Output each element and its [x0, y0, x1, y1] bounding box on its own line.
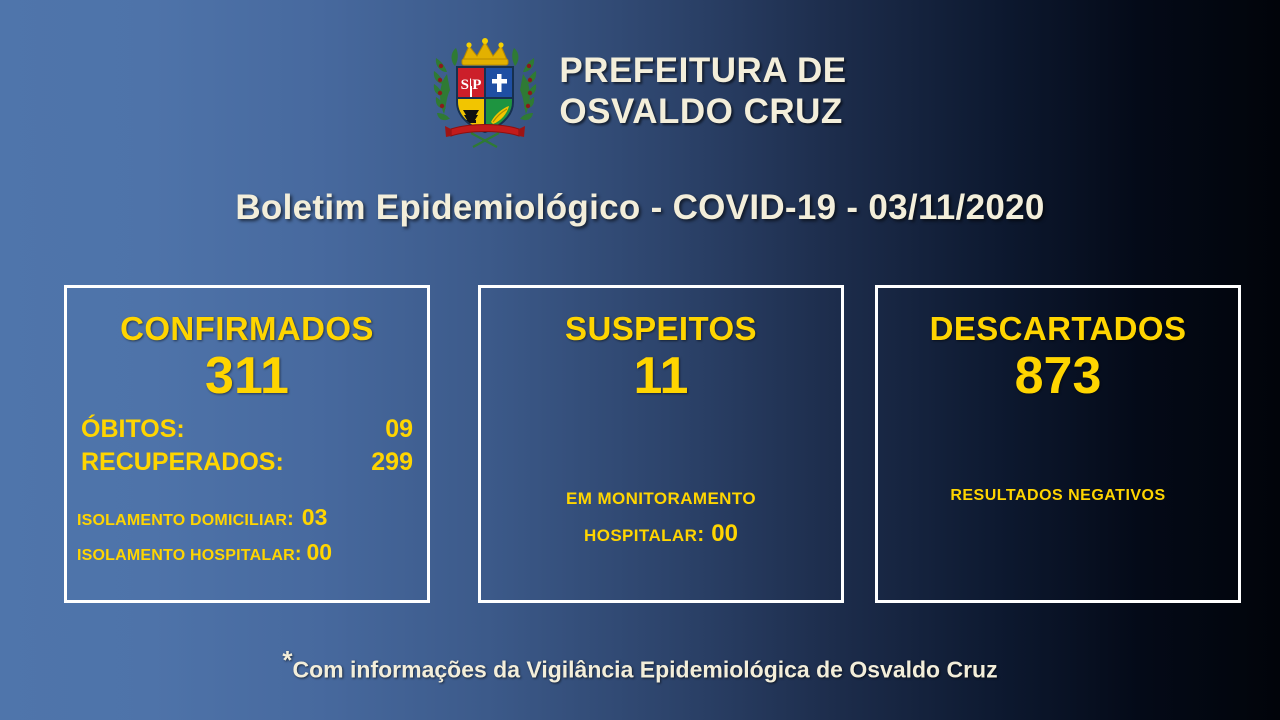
footnote-text: Com informações da Vigilância Epidemioló…: [293, 657, 998, 683]
stat-row-obitos: ÓBITOS: 09: [81, 413, 413, 446]
stat-row-isolamento-domiciliar: ISOLAMENTO DOMICILIAR : 03: [77, 500, 415, 536]
stat-value-isolamento-domiciliar: 03: [302, 500, 328, 536]
org-title-line2: OSVALDO CRUZ: [559, 92, 846, 133]
card-confirmados-total: 311: [67, 350, 427, 403]
monitoring-label-line1: EM MONITORAMENTO: [481, 489, 841, 509]
card-suspeitos-total: 11: [481, 350, 841, 403]
org-title-line1: PREFEITURA DE: [559, 51, 846, 92]
card-descartados-title: DESCARTADOS: [878, 310, 1238, 348]
confirmados-minor-stats: ISOLAMENTO DOMICILIAR : 03 ISOLAMENTO HO…: [77, 500, 415, 571]
organization-title: PREFEITURA DE OSVALDO CRUZ: [559, 51, 846, 132]
stat-label-isolamento-domiciliar: ISOLAMENTO DOMICILIAR: [77, 509, 287, 534]
card-suspeitos: SUSPEITOS 11 EM MONITORAMENTO HOSPITALAR…: [478, 285, 844, 603]
monitoring-label-hospitalar: HOSPITALAR: [584, 526, 697, 546]
monitoring-separator: :: [697, 523, 704, 547]
card-confirmados-title: CONFIRMADOS: [67, 310, 427, 348]
monitoring-hospital-row: HOSPITALAR : 00: [481, 520, 841, 548]
stats-cards-container: CONFIRMADOS 311 ÓBITOS: 09 RECUPERADOS: …: [0, 285, 1280, 605]
header: S|P: [0, 36, 1280, 148]
confirmados-major-stats: ÓBITOS: 09 RECUPERADOS: 299: [81, 413, 413, 480]
card-descartados-total: 873: [878, 350, 1238, 403]
osvaldo-cruz-coat-of-arms-icon: S|P: [433, 36, 537, 148]
footnote-asterisk: *: [282, 645, 292, 675]
stat-separator-isolamento-hospitalar: :: [295, 539, 302, 570]
stat-row-isolamento-hospitalar: ISOLAMENTO HOSPITALAR : 00: [77, 535, 415, 571]
stat-label-recuperados: RECUPERADOS:: [81, 446, 284, 479]
card-descartados-caption: RESULTADOS NEGATIVOS: [878, 487, 1238, 505]
footer-note: *Com informações da Vigilância Epidemiol…: [0, 645, 1280, 684]
monitoring-value-hospitalar: 00: [711, 520, 738, 548]
stat-row-recuperados: RECUPERADOS: 299: [81, 446, 413, 479]
stat-value-isolamento-hospitalar: 00: [307, 535, 333, 571]
card-confirmados: CONFIRMADOS 311 ÓBITOS: 09 RECUPERADOS: …: [64, 285, 430, 603]
stat-value-recuperados: 299: [371, 446, 413, 479]
stat-value-obitos: 09: [385, 413, 413, 446]
stat-label-isolamento-hospitalar: ISOLAMENTO HOSPITALAR: [77, 544, 295, 569]
stat-label-obitos: ÓBITOS:: [81, 413, 185, 446]
stat-separator-isolamento-domiciliar: :: [287, 504, 294, 535]
page-title: Boletim Epidemiológico - COVID-19 - 03/1…: [0, 188, 1280, 228]
card-descartados: DESCARTADOS 873 RESULTADOS NEGATIVOS: [875, 285, 1241, 603]
card-suspeitos-title: SUSPEITOS: [481, 310, 841, 348]
suspeitos-monitoring-block: EM MONITORAMENTO HOSPITALAR : 00: [481, 489, 841, 548]
